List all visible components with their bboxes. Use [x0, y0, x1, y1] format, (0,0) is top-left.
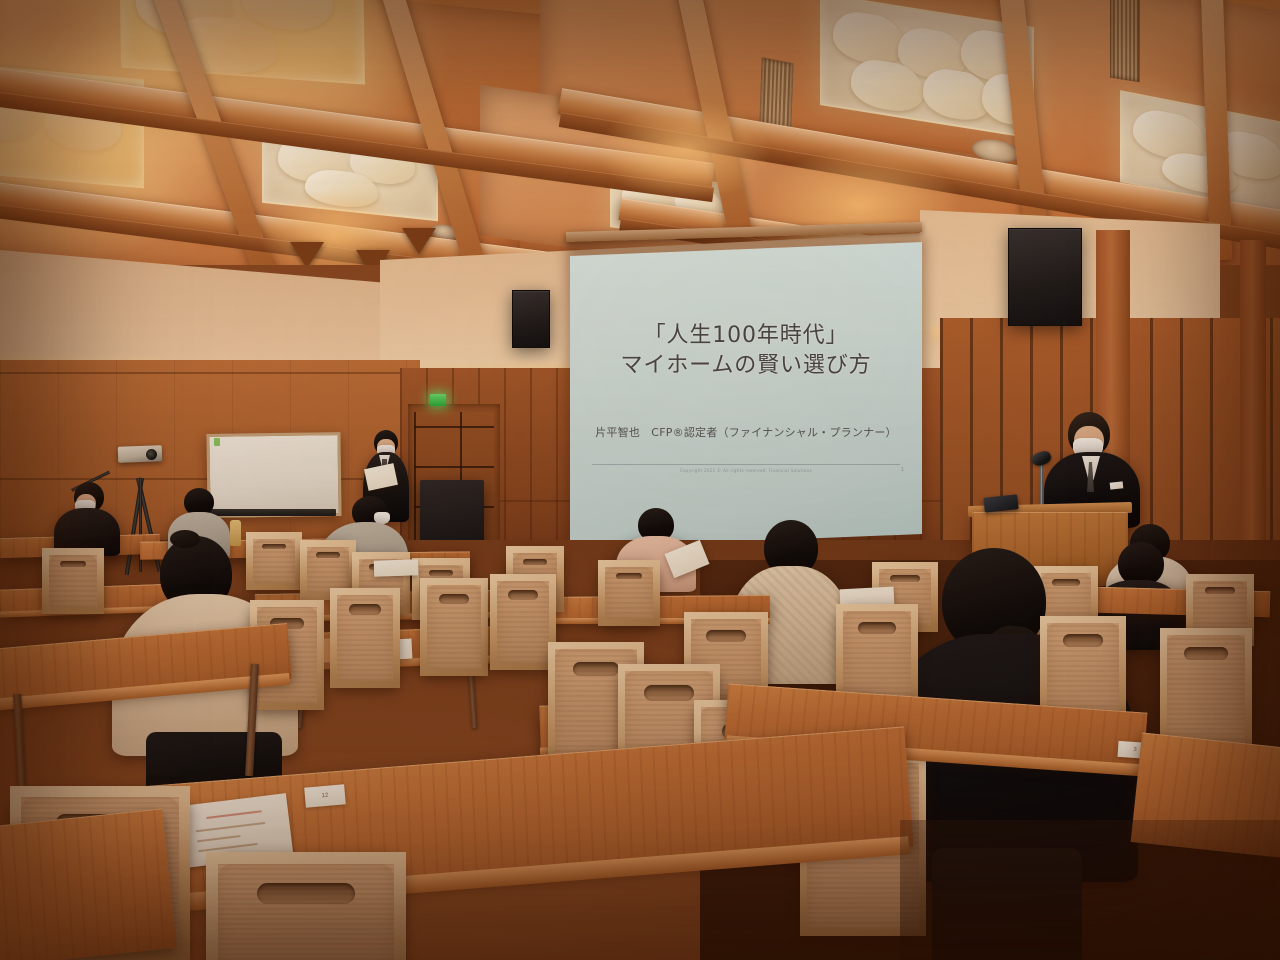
chair-back [490, 574, 556, 670]
chair-handle-slot [349, 604, 380, 614]
air-diffuser [1110, 0, 1140, 82]
banquet-chair[interactable] [330, 588, 400, 688]
chair-back [330, 588, 400, 688]
wall-speaker [512, 290, 550, 348]
whiteboard-magnet [214, 438, 220, 446]
banquet-chair[interactable] [420, 578, 488, 676]
banquet-chair[interactable] [42, 548, 104, 614]
banquet-chair[interactable] [490, 574, 556, 670]
projection-screen: 「人生100年時代」 マイホームの賢い選び方 片平智也 CFP®認定者（ファイナ… [570, 242, 922, 548]
slide-divider [592, 464, 900, 465]
camera-lens-icon [146, 449, 157, 460]
chair-handle-slot [1063, 634, 1103, 646]
banquet-chair[interactable] [598, 560, 660, 626]
chair-handle-slot [316, 552, 340, 558]
slide-title-line1: 「人生100年時代」 [570, 320, 922, 351]
chair-back [420, 578, 488, 676]
handout-paper [374, 559, 419, 577]
chair-handle-slot [439, 594, 469, 604]
chair-back [206, 852, 406, 960]
chair-handle-slot [644, 685, 693, 701]
attendee-hairbun [170, 530, 200, 548]
ceiling-cone-fixture [290, 242, 324, 265]
chair-handle-slot [257, 883, 356, 904]
wall-speaker [1008, 228, 1082, 326]
ceiling-cone-fixture [402, 228, 436, 254]
chair-handle-slot [523, 559, 548, 565]
slide-page-number: 1 [901, 467, 904, 473]
chair-handle-slot [616, 573, 643, 579]
chair-handle-slot [60, 561, 87, 567]
chair-handle-slot [508, 590, 537, 600]
paper-text-line [206, 810, 262, 819]
floor-shadow [900, 820, 1280, 960]
chair-handle-slot [1205, 587, 1235, 594]
paper-text-line [198, 843, 258, 852]
paper-text-line [197, 835, 241, 842]
paper-text-line [196, 822, 266, 833]
list-item [54, 482, 120, 552]
exit-sign-icon [430, 394, 446, 406]
banquet-chair[interactable] [206, 852, 406, 960]
chair-handle-slot [1184, 647, 1228, 660]
seminar-room-photo: 「人生100年時代」 マイホームの賢い選び方 片平智也 CFP®認定者（ファイナ… [0, 0, 1280, 960]
slide-byline: 片平智也 CFP®認定者（ファイナンシャル・プランナー） [570, 424, 922, 440]
chair-back [42, 548, 104, 614]
presenter-pocket-square [1110, 481, 1124, 489]
chair-back [598, 560, 660, 626]
chair-handle-slot [858, 622, 896, 634]
table-row [0, 808, 177, 960]
chair-handle-slot [706, 630, 745, 642]
banquet-chair[interactable] [1160, 628, 1252, 752]
chair-back [1160, 628, 1252, 752]
wall-panel-seam [0, 372, 420, 374]
table-number-placard: 12 [304, 784, 346, 807]
placard-number: 12 [304, 784, 346, 807]
slide-footer: Copyright 2021 © All rights reserved. Fi… [570, 468, 922, 473]
chair-handle-slot [573, 662, 619, 676]
slide-title-line2: マイホームの賢い選び方 [570, 350, 922, 381]
chair-handle-slot [429, 570, 454, 576]
